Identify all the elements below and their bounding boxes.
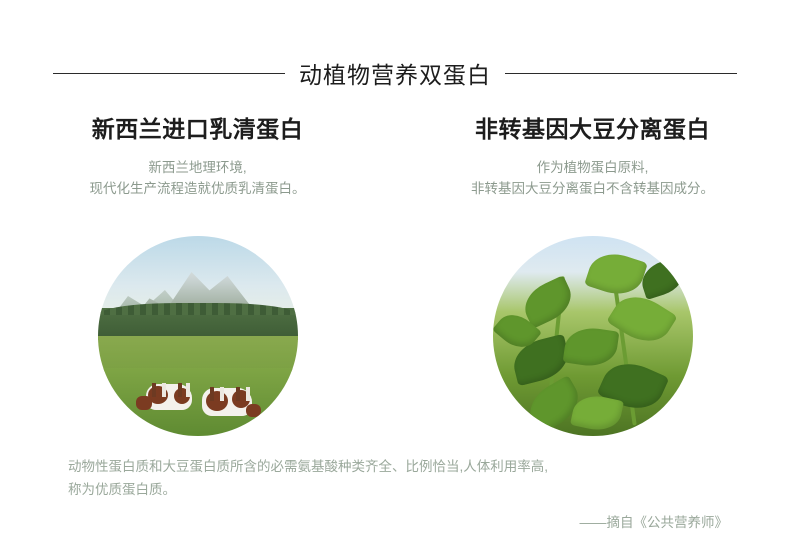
page-header: 动植物营养双蛋白 [0, 56, 790, 90]
footer-quote: 动物性蛋白质和大豆蛋白质所含的必需氨基酸种类齐全、比例恰当,人体利用率高, 称为… [68, 455, 728, 534]
cow-leg [186, 383, 190, 397]
cow-head [136, 396, 152, 410]
column-soy-protein: 非转基因大豆分离蛋白 作为植物蛋白原料, 非转基因大豆分离蛋白不含转基因成分。 [395, 110, 790, 199]
header-rule-left [53, 73, 285, 74]
page-title: 动植物营养双蛋白 [285, 56, 505, 90]
pasture-cows-photo [98, 236, 298, 436]
column-subtitle-soy-line2: 非转基因大豆分离蛋白不含转基因成分。 [471, 178, 714, 199]
column-title-soy: 非转基因大豆分离蛋白 [475, 110, 710, 144]
columns-headings: 新西兰进口乳清蛋白 新西兰地理环境, 现代化生产流程造就优质乳清蛋白。 非转基因… [0, 110, 790, 199]
field-near-shape [98, 368, 298, 436]
soybean-plants-photo [493, 236, 693, 436]
footer-citation: ——摘自《公共营养师》 [68, 511, 728, 534]
cow-head [246, 404, 261, 417]
footer-line-2: 称为优质蛋白质。 [68, 478, 728, 501]
cow-leg [236, 387, 240, 401]
cow-leg [210, 387, 214, 401]
column-subtitle-whey-line2: 现代化生产流程造就优质乳清蛋白。 [90, 178, 306, 199]
column-title-whey: 新西兰进口乳清蛋白 [92, 110, 304, 144]
photo-wrap-whey [0, 236, 395, 436]
cow-leg [152, 383, 156, 397]
column-subtitle-whey-line1: 新西兰地理环境, [148, 157, 246, 178]
cow-leg [220, 387, 224, 401]
footer-line-1: 动物性蛋白质和大豆蛋白质所含的必需氨基酸种类齐全、比例恰当,人体利用率高, [68, 455, 728, 478]
column-whey-protein: 新西兰进口乳清蛋白 新西兰地理环境, 现代化生产流程造就优质乳清蛋白。 [0, 110, 395, 199]
photo-wrap-soy [395, 236, 790, 436]
photos-row [0, 236, 790, 436]
field-far-shape [98, 336, 298, 372]
cow-leg [162, 383, 166, 397]
column-subtitle-soy-line1: 作为植物蛋白原料, [537, 157, 649, 178]
header-rule-right [505, 73, 737, 74]
cow-leg [178, 383, 182, 397]
cow-leg [246, 387, 250, 401]
